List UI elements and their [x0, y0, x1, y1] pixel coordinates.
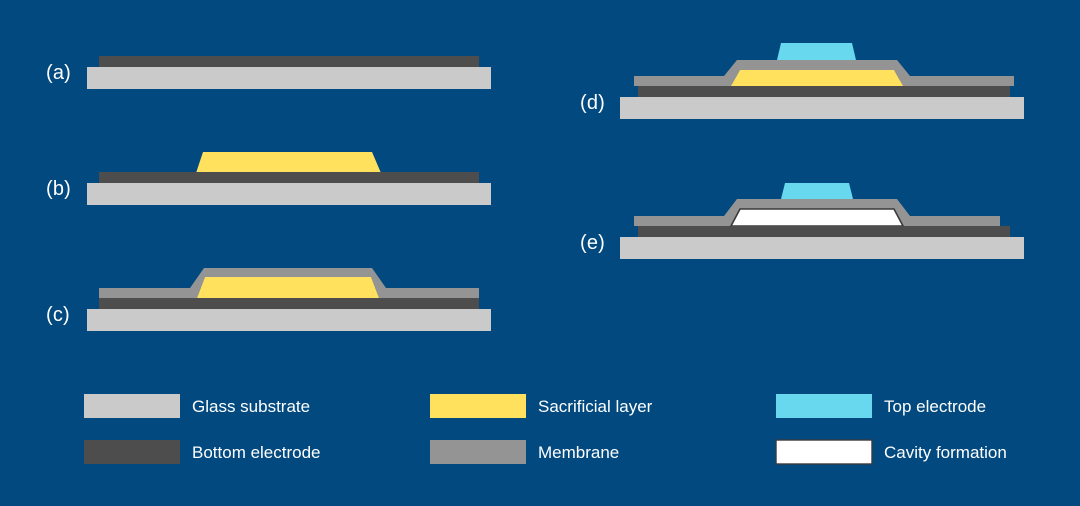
- panel-label-d: (d): [580, 92, 605, 115]
- panel-d-membrane-base-left: [634, 76, 732, 86]
- legend-swatch-cavity-formation: [776, 440, 872, 464]
- legend-label-sacrificial-layer: Sacrificial layer: [538, 398, 652, 415]
- panel-e-bottom-electrode: [638, 226, 1010, 237]
- panel-b: [87, 152, 491, 205]
- panel-b-bottom-electrode: [99, 172, 479, 183]
- panel-b-glass-substrate: [87, 183, 491, 205]
- panel-d-glass-substrate: [620, 97, 1024, 119]
- panel-e-membrane-base-right: [900, 216, 1000, 226]
- panel-b-sacrificial-layer: [196, 152, 381, 173]
- legend-label-membrane: Membrane: [538, 444, 619, 461]
- panel-d: [620, 43, 1024, 119]
- legend-label-top-electrode: Top electrode: [884, 398, 986, 415]
- panel-e-top-electrode: [781, 183, 853, 199]
- panel-label-c: (c): [46, 304, 70, 327]
- legend-label-bottom-electrode: Bottom electrode: [192, 444, 321, 461]
- legend-label-cavity-formation: Cavity formation: [884, 444, 1007, 461]
- panel-c-membrane-base-left: [99, 288, 197, 298]
- legend-swatch-membrane: [430, 440, 526, 464]
- legend-swatch-sacrificial-layer: [430, 394, 526, 418]
- legend-swatch-top-electrode: [776, 394, 872, 418]
- legend-swatch-bottom-electrode: [84, 440, 180, 464]
- panel-label-e: (e): [580, 232, 605, 255]
- panel-c: [87, 268, 491, 331]
- panel-c-sacrificial-layer: [197, 277, 379, 298]
- panel-d-sacrificial-layer: [731, 70, 903, 86]
- panel-label-a: (a): [46, 62, 71, 85]
- panel-e: [620, 183, 1024, 259]
- panel-label-b: (b): [46, 178, 71, 201]
- panel-d-bottom-electrode: [638, 86, 1010, 97]
- panel-e-glass-substrate: [620, 237, 1024, 259]
- panel-e-cavity-formation: [731, 209, 903, 226]
- panel-e-membrane-base-left: [634, 216, 732, 226]
- panel-c-membrane-base-right: [379, 288, 479, 298]
- legend-label-glass-substrate: Glass substrate: [192, 398, 310, 415]
- legend-swatch-glass-substrate: [84, 394, 180, 418]
- fabrication-process-diagram: [0, 0, 1080, 506]
- panel-c-bottom-electrode: [99, 298, 479, 309]
- panel-d-top-electrode: [777, 43, 856, 60]
- panel-c-glass-substrate: [87, 309, 491, 331]
- panel-a-glass-substrate: [87, 67, 491, 89]
- panel-a-bottom-electrode: [99, 56, 479, 67]
- panel-d-membrane-base-right: [900, 76, 1014, 86]
- panel-a: [87, 56, 491, 89]
